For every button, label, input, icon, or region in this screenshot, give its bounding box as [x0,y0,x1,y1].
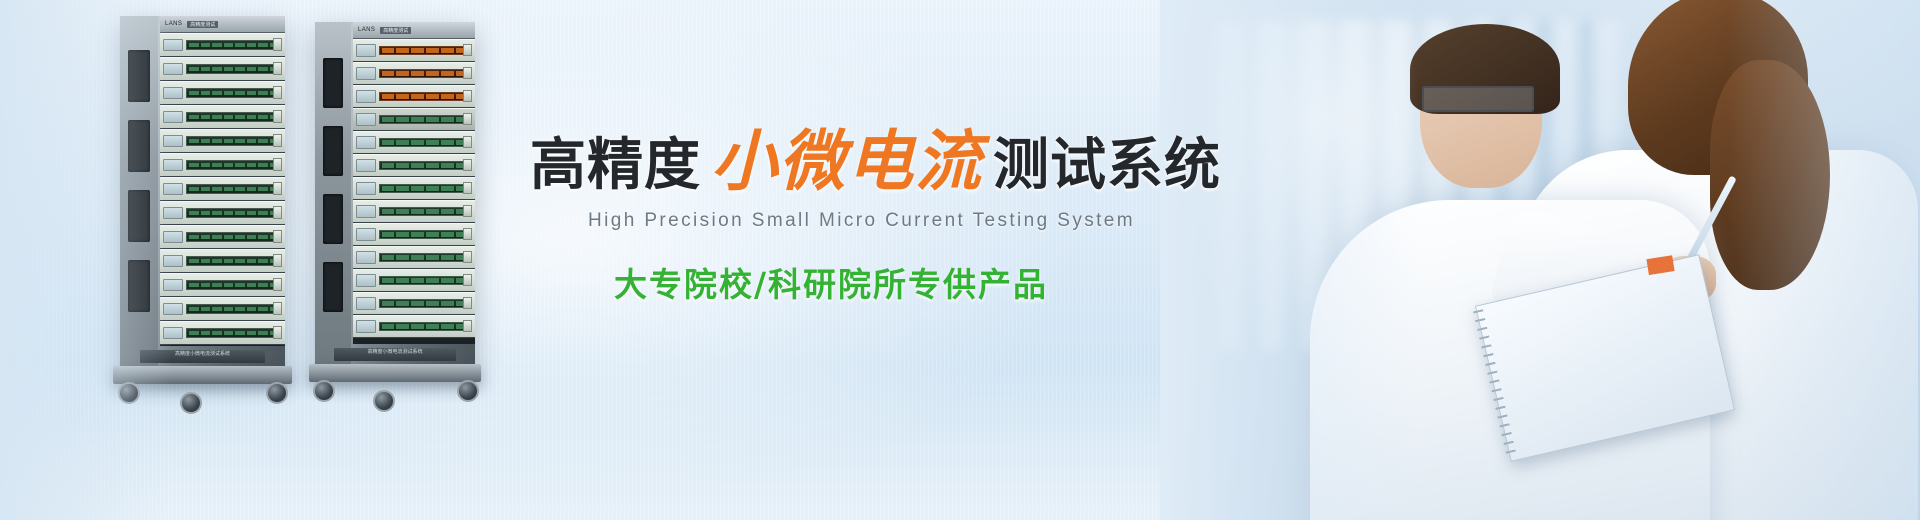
page-title: 高精度小微电流测试系统 [530,128,1280,194]
banner-copy: 高精度小微电流测试系统 High Precision Small Micro C… [640,128,1280,306]
subtitle-english: High Precision Small Micro Current Testi… [588,210,1280,232]
product-banner: LANS 高精度测试 [0,0,1920,520]
headline-part-3: 测试系统 [993,133,1221,198]
headline-part-2-accent: 小微电流 [701,122,993,200]
tagline-chinese: 大专院校/科研院所专供产品 [614,258,1280,306]
headline-part-1: 高精度 [530,133,701,198]
